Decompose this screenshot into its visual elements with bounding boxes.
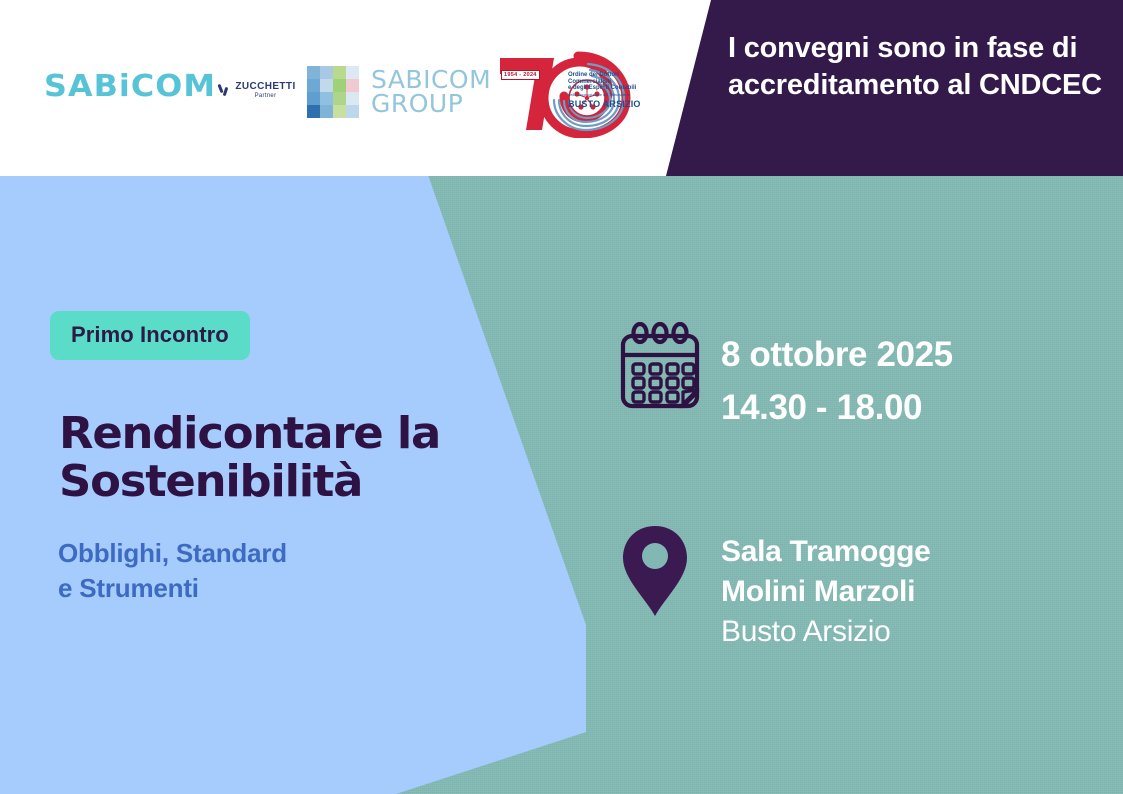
zucchetti-partner-lockup: ZUCCHETTI Partner bbox=[218, 82, 295, 99]
mosaic-tile bbox=[320, 105, 333, 118]
mosaic-tile bbox=[307, 92, 320, 105]
odcec-line1: Ordine dei Dottori Commercialisti bbox=[568, 72, 652, 85]
page-subtitle-line-1: Obblighi, Standard bbox=[58, 536, 438, 571]
zucchetti-name: ZUCCHETTI bbox=[235, 82, 295, 92]
odcec-anniversary-years: 1954 - 2024 bbox=[501, 70, 540, 80]
event-time: 14.30 - 18.00 bbox=[721, 381, 953, 434]
mosaic-tile bbox=[346, 79, 359, 92]
mosaic-tile bbox=[320, 79, 333, 92]
venue-city: Busto Arsizio bbox=[721, 612, 931, 652]
mosaic-tile bbox=[307, 66, 320, 79]
mosaic-tile bbox=[333, 105, 346, 118]
event-date-block: 8 ottobre 2025 14.30 - 18.00 bbox=[617, 322, 953, 434]
sabicom-wordmark: SABiCOM bbox=[44, 72, 216, 102]
mosaic-squares-icon bbox=[307, 66, 359, 118]
event-location-text: Sala Tramogge Molini Marzoli Busto Arsiz… bbox=[721, 522, 931, 652]
venue-building: Molini Marzoli bbox=[721, 572, 931, 612]
calendar-icon bbox=[617, 322, 703, 412]
mosaic-tile bbox=[333, 66, 346, 79]
mosaic-tile bbox=[320, 92, 333, 105]
mosaic-tile bbox=[307, 105, 320, 118]
venue-hall: Sala Tramogge bbox=[721, 532, 931, 572]
logo-sabicom-group: SABICOM GROUP bbox=[307, 66, 491, 118]
page-title-line-2: Sostenibilità bbox=[59, 458, 467, 506]
page-subtitle-line-2: e Strumenti bbox=[58, 571, 438, 606]
mosaic-tile bbox=[333, 79, 346, 92]
sabicom-group-line2: GROUP bbox=[371, 92, 491, 116]
odcec-line3: della circoscrizione del Tribunale di bbox=[568, 93, 652, 97]
mosaic-tile bbox=[346, 92, 359, 105]
accreditation-banner-text: I convegni sono in fase di accreditament… bbox=[728, 30, 1108, 104]
mosaic-tile bbox=[320, 66, 333, 79]
zucchetti-partner-label: Partner bbox=[235, 93, 295, 99]
event-location-block: Sala Tramogge Molini Marzoli Busto Arsiz… bbox=[617, 522, 931, 652]
mosaic-tile bbox=[346, 66, 359, 79]
event-date: 8 ottobre 2025 bbox=[721, 328, 953, 381]
event-date-text: 8 ottobre 2025 14.30 - 18.00 bbox=[721, 322, 953, 434]
status-badge: Primo Incontro bbox=[50, 311, 250, 360]
mosaic-tile bbox=[333, 92, 346, 105]
zucchetti-leaf-icon bbox=[218, 83, 232, 99]
odcec-line2: e degli Esperti Contabili bbox=[568, 85, 652, 92]
event-poster: SABiCOM ZUCCHETTI Partner SABICOM GROUP bbox=[0, 0, 1123, 794]
page-subtitle: Obblighi, Standard e Strumenti bbox=[58, 536, 438, 606]
page-title: Rendicontare la Sostenibilità bbox=[59, 410, 467, 505]
mosaic-tile bbox=[307, 79, 320, 92]
logo-odcec-busto-arsizio: 1954 - 2024 Ordine dei Dottori Commercia… bbox=[492, 48, 652, 138]
odcec-name-block: Ordine dei Dottori Commercialisti e degl… bbox=[568, 72, 652, 109]
odcec-line4: BUSTO ARSIZIO bbox=[568, 99, 652, 109]
mosaic-tile bbox=[346, 105, 359, 118]
page-title-line-1: Rendicontare la bbox=[59, 410, 467, 458]
logo-bar: SABiCOM ZUCCHETTI Partner SABICOM GROUP bbox=[0, 0, 680, 176]
logo-sabicom: SABiCOM ZUCCHETTI Partner bbox=[44, 72, 296, 102]
map-pin-icon bbox=[617, 522, 693, 620]
